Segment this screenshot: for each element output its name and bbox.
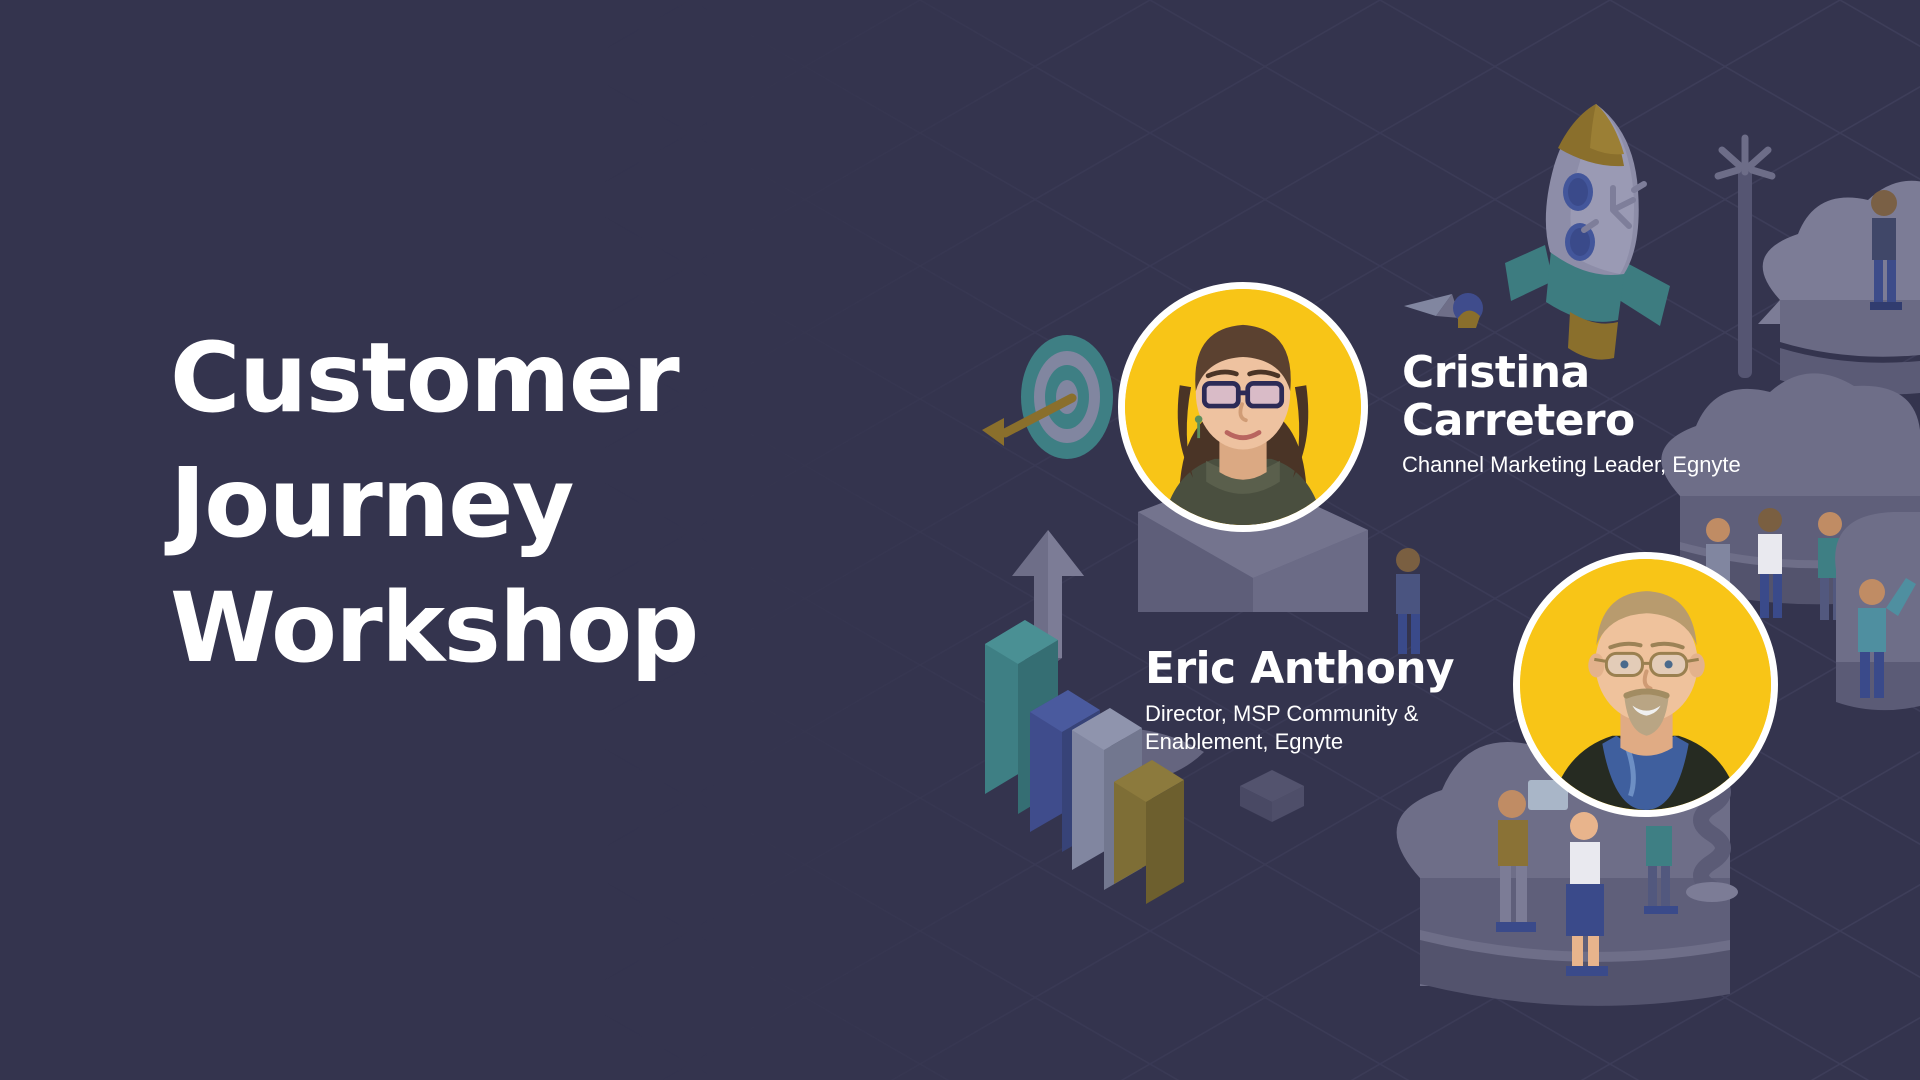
speaker-info: Cristina Carretero Channel Marketing Lea… bbox=[1402, 349, 1741, 480]
signal-tower-icon bbox=[1718, 138, 1772, 378]
page-title: Customer Journey Workshop bbox=[170, 316, 698, 690]
arrow-up-icon bbox=[1012, 530, 1084, 668]
eric-anthony-headshot bbox=[1520, 559, 1771, 810]
cloud-platform bbox=[1835, 512, 1920, 710]
avatar bbox=[1513, 552, 1778, 817]
people-figures bbox=[1870, 190, 1902, 310]
dartboard-target-icon bbox=[982, 335, 1113, 459]
people-figures bbox=[1396, 548, 1420, 654]
cloud-platform bbox=[1758, 181, 1920, 395]
avatar bbox=[1118, 282, 1368, 532]
people-figures bbox=[1858, 578, 1916, 698]
speaker-role: Channel Marketing Leader, Egnyte bbox=[1402, 451, 1741, 480]
slide-canvas: Customer Journey Workshop bbox=[0, 0, 1920, 1080]
speaker-role: Director, MSP Community & Enablement, Eg… bbox=[1145, 700, 1454, 757]
cristina-carretero-headshot bbox=[1125, 289, 1361, 525]
speaker-info: Eric Anthony Director, MSP Community & E… bbox=[1145, 645, 1454, 757]
decorative-cube bbox=[1240, 770, 1304, 822]
paper-plane-icon bbox=[1404, 293, 1483, 328]
rocket-icon bbox=[1505, 104, 1670, 360]
speaker-name: Cristina Carretero bbox=[1402, 349, 1741, 444]
speaker-name: Eric Anthony bbox=[1145, 645, 1454, 693]
